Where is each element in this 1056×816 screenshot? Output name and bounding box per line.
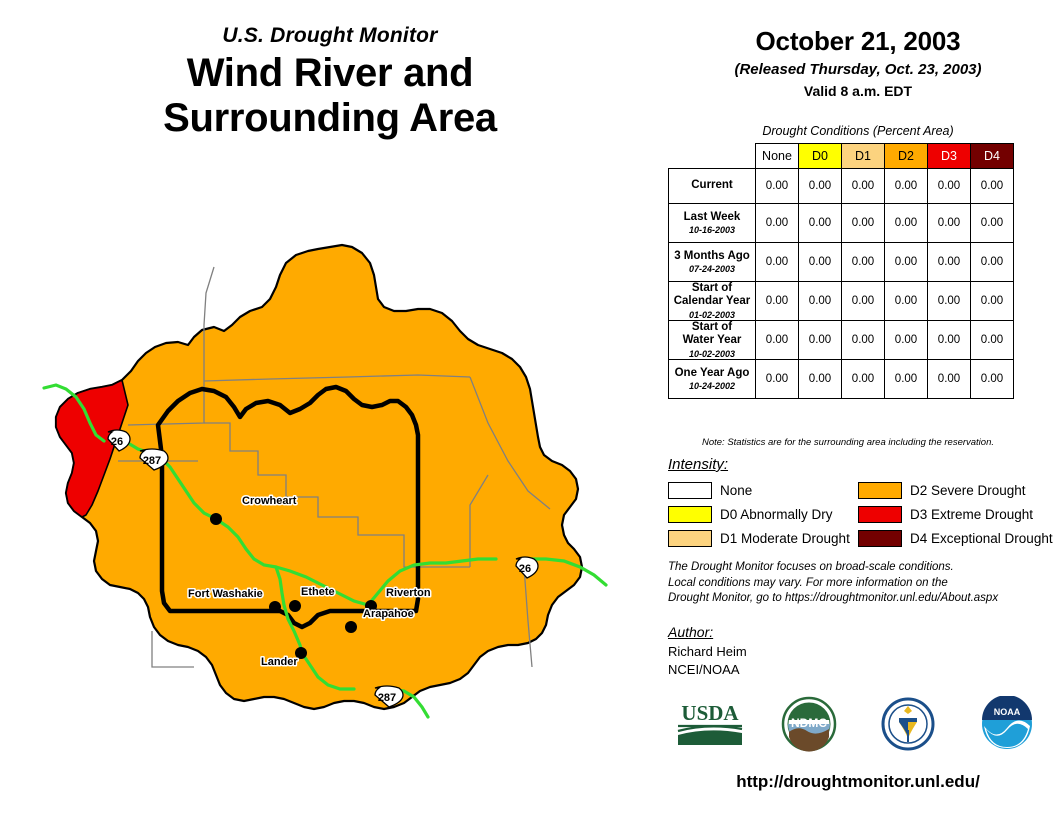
table-cell-d1: 0.00	[842, 204, 885, 243]
city-marker-dot	[210, 513, 222, 525]
table-cell-none: 0.00	[756, 360, 799, 399]
table-cell-d1: 0.00	[842, 282, 885, 321]
legend-label: D2 Severe Drought	[910, 483, 1026, 498]
city-label: Lander	[261, 656, 298, 668]
legend-swatch	[668, 530, 712, 547]
table-row-label: Start ofWater Year10-02-2003	[669, 321, 756, 360]
drought-monitor-page: U.S. Drought Monitor Wind River and Surr…	[0, 0, 1056, 816]
legend-swatch	[858, 506, 902, 523]
legend-label: D0 Abnormally Dry	[720, 507, 833, 522]
table-cell-none: 0.00	[756, 169, 799, 204]
table-cell-none: 0.00	[756, 321, 799, 360]
legend-item: D0 Abnormally Dry	[668, 506, 858, 523]
table-cell-d4: 0.00	[971, 321, 1014, 360]
city-marker-dot	[269, 601, 281, 613]
disclaimer-text: The Drought Monitor focuses on broad-sca…	[668, 560, 1048, 607]
table-row: Start ofWater Year10-02-20030.000.000.00…	[669, 321, 1014, 360]
usda-logo: USDA	[668, 696, 752, 752]
table-cell-none: 0.00	[756, 243, 799, 282]
highway-shield-number: 287	[378, 692, 396, 704]
legend-label: D3 Extreme Drought	[910, 507, 1033, 522]
table-cell-d1: 0.00	[842, 360, 885, 399]
table-row-date: 10-16-2003	[669, 225, 755, 235]
table-cell-none: 0.00	[756, 204, 799, 243]
map-region-d2	[56, 245, 582, 709]
table-cell-d3: 0.00	[928, 169, 971, 204]
ndmc-logo: NDMC	[767, 696, 851, 752]
table-header-row: NoneD0D1D2D3D4	[669, 144, 1014, 169]
city-marker-dot	[345, 621, 357, 633]
table-cell-d2: 0.00	[885, 321, 928, 360]
report-valid-time: Valid 8 a.m. EDT	[660, 83, 1056, 99]
legend-item: D4 Exceptional Drought	[858, 530, 1048, 547]
table-row-label: Start ofCalendar Year01-02-2003	[669, 282, 756, 321]
intensity-legend: NoneD2 Severe DroughtD0 Abnormally DryD3…	[668, 478, 1048, 550]
legend-item: D2 Severe Drought	[858, 482, 1048, 499]
table-row-label: One Year Ago10-24-2002	[669, 360, 756, 399]
table-note: Note: Statistics are for the surrounding…	[668, 437, 1028, 448]
table-cell-d4: 0.00	[971, 360, 1014, 399]
table-cell-d4: 0.00	[971, 243, 1014, 282]
legend-swatch	[668, 506, 712, 523]
svg-text:NDMC: NDMC	[791, 716, 827, 730]
footer-url: http://droughtmonitor.unl.edu/	[660, 772, 1056, 792]
table-row-date: 10-02-2003	[669, 349, 755, 359]
legend-swatch	[858, 482, 902, 499]
table-col-header-d2: D2	[885, 144, 928, 169]
table-cell-d0: 0.00	[799, 169, 842, 204]
table-cell-d1: 0.00	[842, 321, 885, 360]
table-cell-d0: 0.00	[799, 360, 842, 399]
table-row: One Year Ago10-24-20020.000.000.000.000.…	[669, 360, 1014, 399]
legend-label: None	[720, 483, 752, 498]
table-cell-d0: 0.00	[799, 321, 842, 360]
table-row: Start ofCalendar Year01-02-20030.000.000…	[669, 282, 1014, 321]
legend-item: None	[668, 482, 858, 499]
table-cell-none: 0.00	[756, 282, 799, 321]
highway-shield-number: 287	[143, 455, 161, 467]
table-cell-d2: 0.00	[885, 169, 928, 204]
table-cell-d3: 0.00	[928, 360, 971, 399]
author-name: Richard Heim	[668, 644, 747, 659]
report-header: October 21, 2003 (Released Thursday, Oct…	[660, 26, 1056, 99]
table-col-header-d0: D0	[799, 144, 842, 169]
page-title-line1: Wind River and	[0, 51, 660, 96]
highway-shield-number: 26	[519, 563, 531, 575]
author-org: NCEI/NOAA	[668, 662, 740, 677]
page-title: Wind River and Surrounding Area	[0, 51, 660, 141]
usdc-seal-logo	[866, 696, 950, 752]
report-date: October 21, 2003	[660, 26, 1056, 57]
city-label: Crowheart	[242, 495, 297, 507]
table-cell-d4: 0.00	[971, 169, 1014, 204]
map-svg: 2628726287 CrowheartFort WashakieEtheteR…	[18, 175, 658, 760]
table-cell-d1: 0.00	[842, 169, 885, 204]
page-title-line2: Surrounding Area	[0, 96, 660, 141]
table-cell-d2: 0.00	[885, 360, 928, 399]
legend-row: D1 Moderate DroughtD4 Exceptional Drough…	[668, 526, 1048, 550]
legend-row: D0 Abnormally DryD3 Extreme Drought	[668, 502, 1048, 526]
table-cell-d4: 0.00	[971, 282, 1014, 321]
legend-label: D1 Moderate Drought	[720, 531, 850, 546]
table-col-header-d3: D3	[928, 144, 971, 169]
legend-item: D3 Extreme Drought	[858, 506, 1048, 523]
table-row-date: 01-02-2003	[669, 310, 755, 320]
city-label: Fort Washakie	[188, 588, 263, 600]
table-row-label: Current	[669, 169, 756, 204]
table-caption: Drought Conditions (Percent Area)	[660, 124, 1056, 138]
table-cell-d4: 0.00	[971, 204, 1014, 243]
table-row: Last Week10-16-20030.000.000.000.000.000…	[669, 204, 1014, 243]
table-cell-d2: 0.00	[885, 204, 928, 243]
table-row-label: 3 Months Ago07-24-2003	[669, 243, 756, 282]
table-cell-d3: 0.00	[928, 204, 971, 243]
legend-swatch	[668, 482, 712, 499]
page-kicker: U.S. Drought Monitor	[0, 24, 660, 47]
table-col-header-d4: D4	[971, 144, 1014, 169]
svg-text:NOAA: NOAA	[993, 707, 1020, 717]
author-heading: Author:	[668, 624, 713, 640]
table-cell-d0: 0.00	[799, 243, 842, 282]
city-label: Arapahoe	[363, 608, 414, 620]
table-cell-d2: 0.00	[885, 282, 928, 321]
drought-conditions-table: NoneD0D1D2D3D4 Current0.000.000.000.000.…	[668, 143, 1014, 399]
legend-label: D4 Exceptional Drought	[910, 531, 1053, 546]
table-cell-d0: 0.00	[799, 204, 842, 243]
table-corner-cell	[669, 144, 756, 169]
legend-row: NoneD2 Severe Drought	[668, 478, 1048, 502]
legend-item: D1 Moderate Drought	[668, 530, 858, 547]
svg-text:USDA: USDA	[681, 701, 739, 725]
table-row-date: 10-24-2002	[669, 381, 755, 391]
report-released: (Released Thursday, Oct. 23, 2003)	[660, 61, 1056, 78]
table-row: Current0.000.000.000.000.000.00	[669, 169, 1014, 204]
drought-map: 2628726287 CrowheartFort WashakieEtheteR…	[18, 175, 658, 760]
city-marker-dot	[289, 600, 301, 612]
legend-swatch	[858, 530, 902, 547]
intensity-heading: Intensity:	[668, 456, 728, 473]
disclaimer-line3: Drought Monitor, go to https://droughtmo…	[668, 591, 1048, 607]
city-label: Riverton	[386, 587, 431, 599]
table-col-header-none: None	[756, 144, 799, 169]
table-cell-d2: 0.00	[885, 243, 928, 282]
table-cell-d3: 0.00	[928, 243, 971, 282]
agency-logos: USDA NDMC	[660, 694, 1056, 754]
table-row: 3 Months Ago07-24-20030.000.000.000.000.…	[669, 243, 1014, 282]
table-col-header-d1: D1	[842, 144, 885, 169]
table-cell-d1: 0.00	[842, 243, 885, 282]
disclaimer-line1: The Drought Monitor focuses on broad-sca…	[668, 560, 1048, 576]
noaa-logo: NOAA	[965, 696, 1049, 752]
table-body: Current0.000.000.000.000.000.00Last Week…	[669, 169, 1014, 399]
table-row-label: Last Week10-16-2003	[669, 204, 756, 243]
disclaimer-line2: Local conditions may vary. For more info…	[668, 576, 1048, 592]
highway-shield-number: 26	[111, 436, 123, 448]
table-cell-d3: 0.00	[928, 282, 971, 321]
table-cell-d0: 0.00	[799, 282, 842, 321]
title-block: U.S. Drought Monitor Wind River and Surr…	[0, 24, 660, 141]
city-label: Ethete	[301, 586, 335, 598]
table-row-date: 07-24-2003	[669, 264, 755, 274]
table-cell-d3: 0.00	[928, 321, 971, 360]
